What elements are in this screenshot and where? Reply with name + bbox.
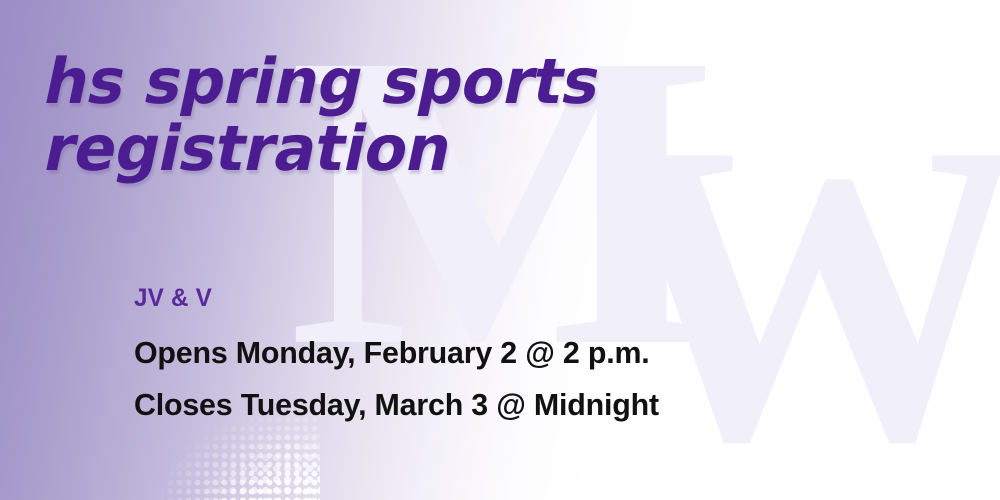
registration-details: JV & V Opens Monday, February 2 @ 2 p.m.…: [134, 286, 894, 420]
registration-closes-text: Closes Tuesday, March 3 @ Midnight: [134, 389, 879, 420]
headline-line-2: registration: [39, 119, 850, 180]
headline-line-1: hs spring sports: [39, 52, 850, 113]
poster-canvas: M W hs spring sports registration JV & V…: [0, 0, 1000, 500]
level-label-jv-v: JV & V: [134, 286, 871, 311]
registration-opens-text: Opens Monday, February 2 @ 2 p.m.: [134, 337, 879, 368]
page-title: hs spring sports registration: [52, 52, 752, 172]
